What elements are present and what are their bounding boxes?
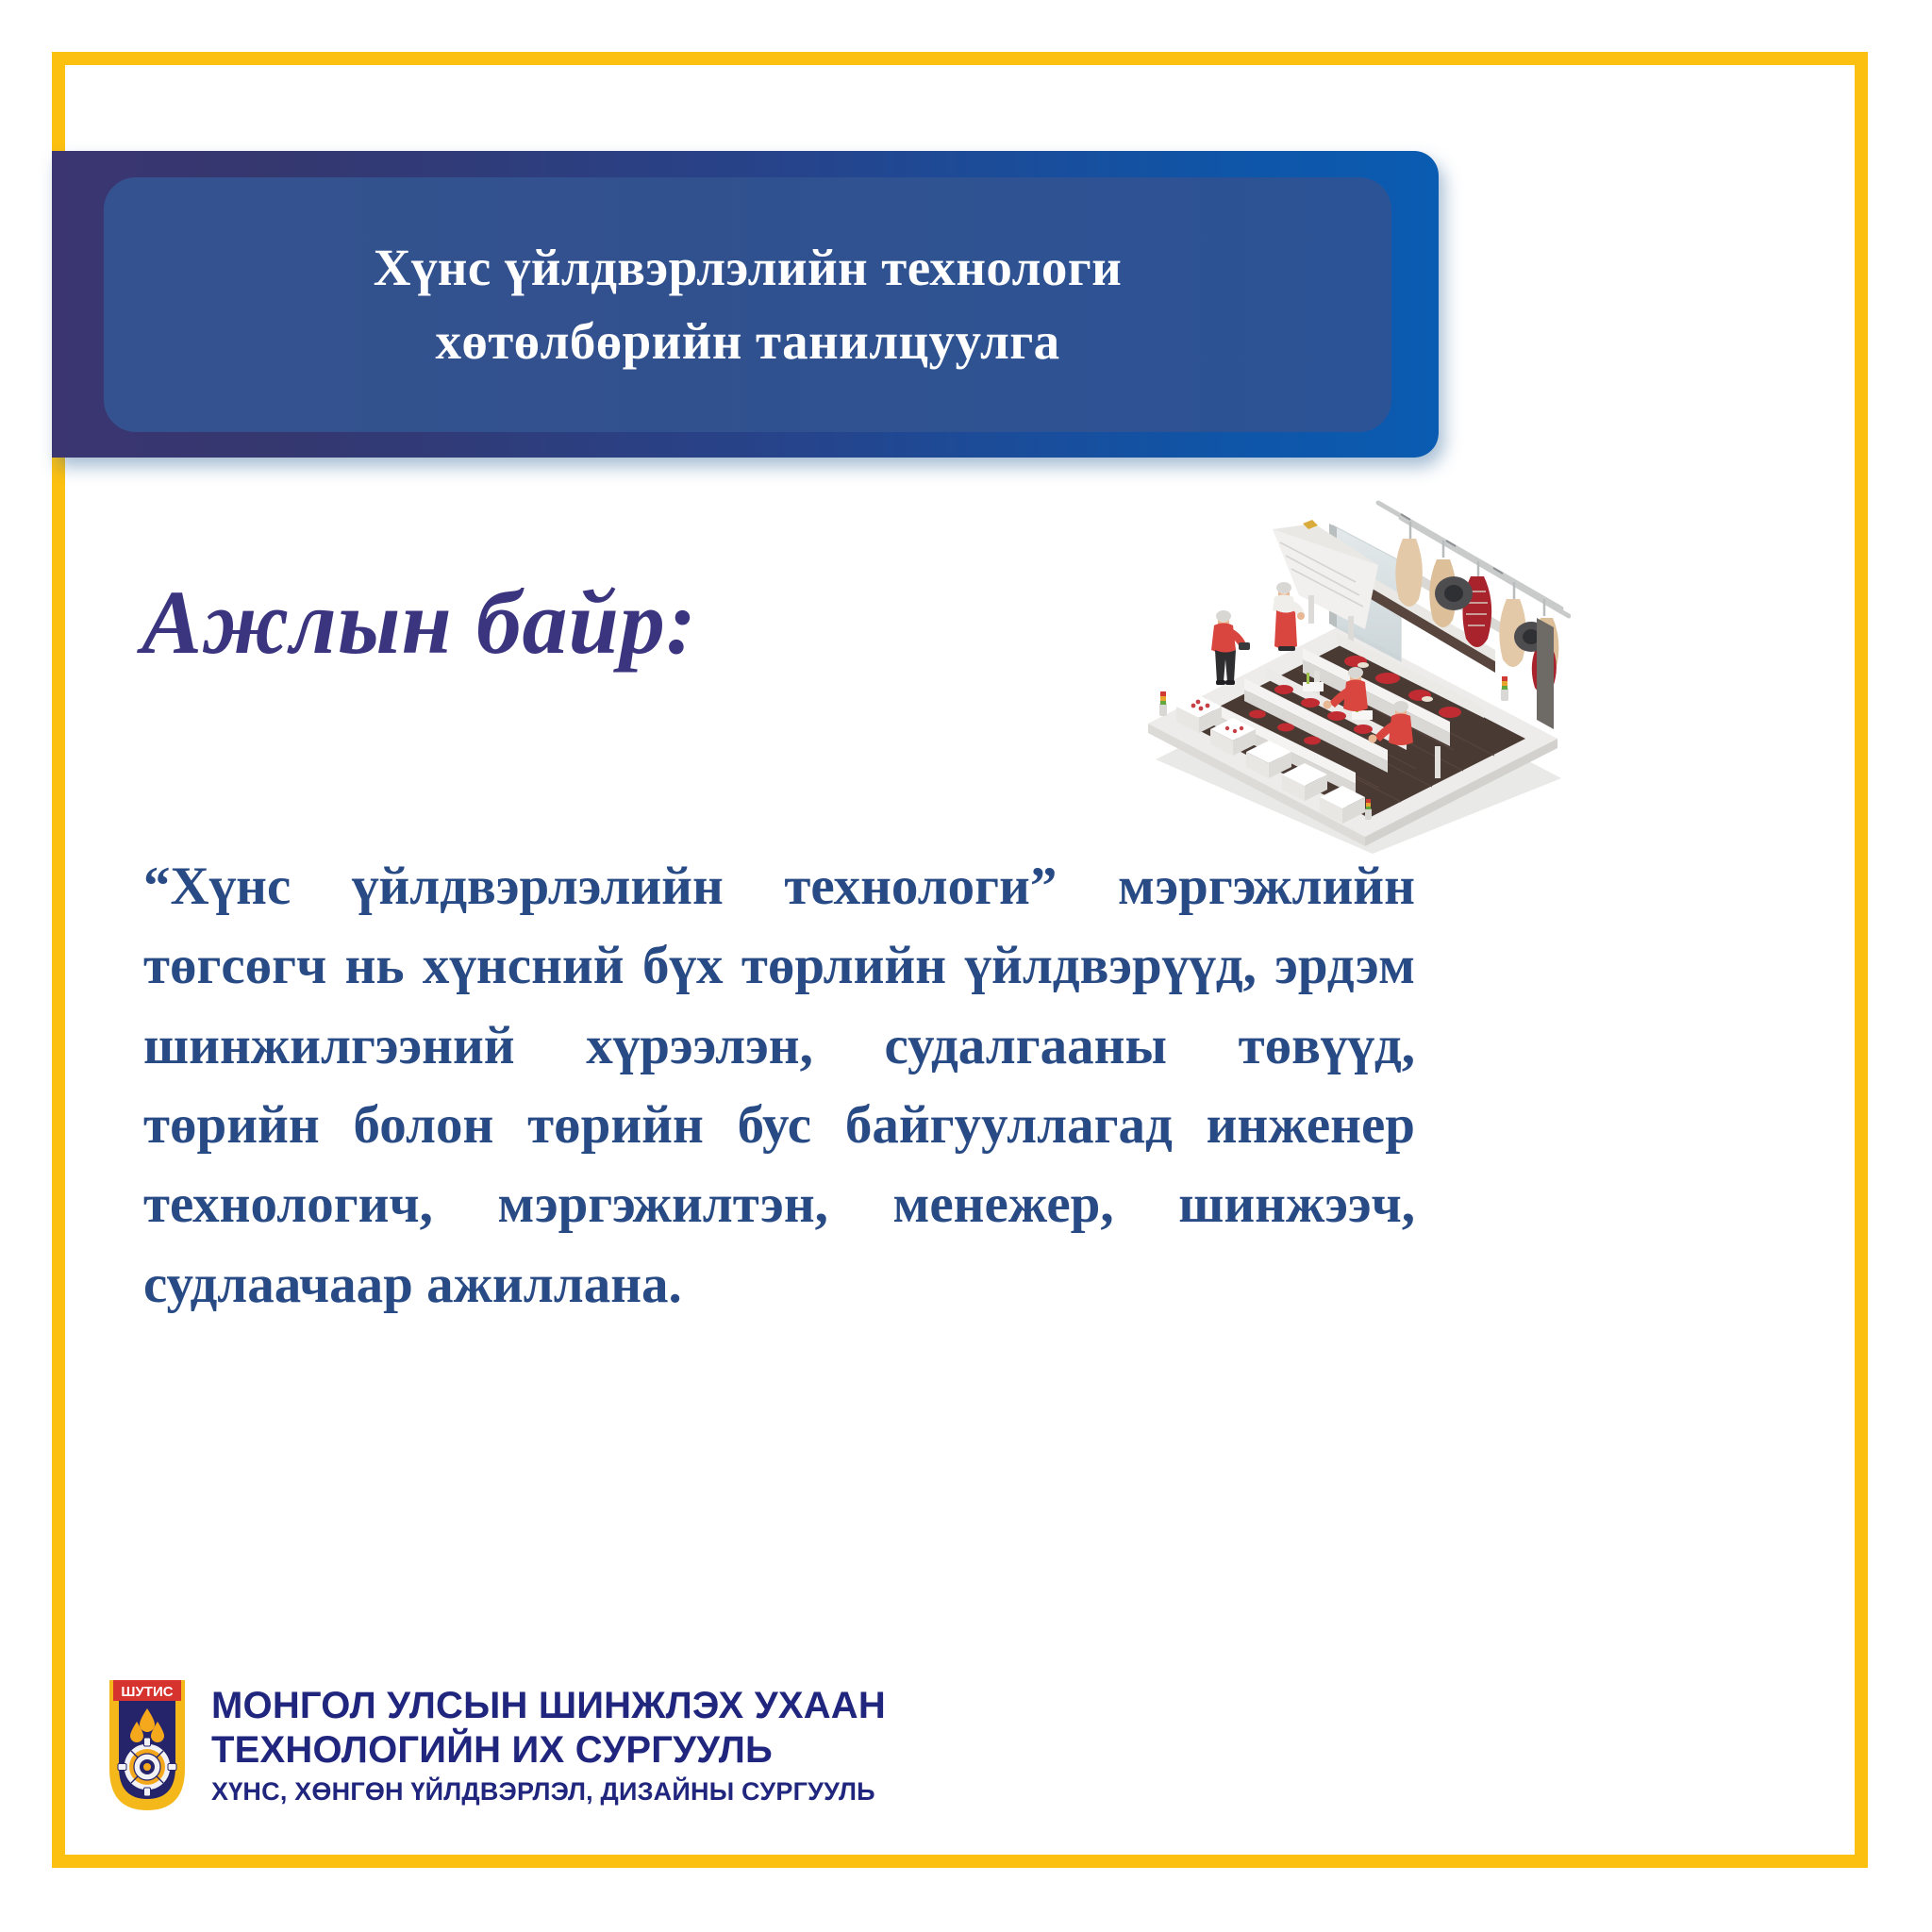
footer-line-3: ХҮНС, ХӨНГӨН ҮЙЛДВЭРЛЭЛ, ДИЗАЙНЫ СУРГУУЛ… (211, 1779, 886, 1805)
footer-line-2: ТЕХНОЛОГИЙН ИХ СУРГУУЛЬ (211, 1731, 886, 1769)
body-paragraph: “Хүнс үйлдвэрлэлийн технологи” мэргэжлий… (143, 847, 1415, 1324)
shutis-logo-banner-text: ШУТИС (121, 1684, 173, 1700)
section-heading: Ажлын байр: (142, 570, 697, 675)
shutis-logo: ШУТИС (104, 1674, 191, 1816)
meat-processing-factory-illustration (1118, 476, 1571, 854)
footer: ШУТИС (104, 1674, 886, 1816)
slide-canvas: Хүнс үйлдвэрлэлийн технологи хөтөлбөрийн… (0, 0, 1932, 1932)
footer-line-1: МОНГОЛ УЛСЫН ШИНЖЛЭХ УХААН (211, 1687, 886, 1724)
title-banner: Хүнс үйлдвэрлэлийн технологи хөтөлбөрийн… (52, 151, 1439, 458)
footer-university-name: МОНГОЛ УЛСЫН ШИНЖЛЭХ УХААН ТЕХНОЛОГИЙН И… (211, 1687, 886, 1805)
title-banner-inner-panel: Хүнс үйлдвэрлэлийн технологи хөтөлбөрийн… (104, 177, 1391, 432)
page-title: Хүнс үйлдвэрлэлийн технологи хөтөлбөрийн… (336, 231, 1159, 378)
